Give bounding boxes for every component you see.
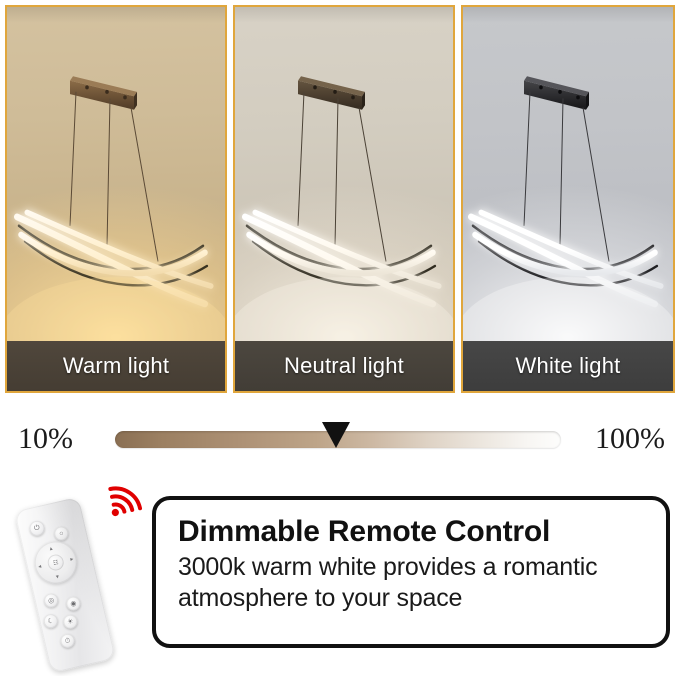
dpad-center-button[interactable]: ☷ <box>46 553 65 572</box>
caption-label: White light <box>516 353 621 379</box>
timer-button-glyph: ⏱ <box>59 632 76 649</box>
panel-warm-light: Warm light <box>5 5 227 393</box>
panel-neutral-light: Neutral light <box>233 5 455 393</box>
callout-body: 3000k warm white provides a romantic atm… <box>178 552 644 613</box>
wifi-signal-icon <box>100 480 152 520</box>
scene-one-button[interactable]: ◎ <box>43 592 60 609</box>
brightness-button-glyph: ☀ <box>62 613 79 630</box>
dimmer-min-label: 10% <box>18 422 73 456</box>
caption-neutral-light: Neutral light <box>235 341 453 391</box>
dimming-range-indicator: 10% 100% <box>0 404 679 470</box>
remote-body[interactable]: ⏻ ○ ▴ ▸ ▾ ◂ ☷ ◎ ◉ ☾ ☀ <box>14 497 116 674</box>
feature-callout-box: Dimmable Remote Control 3000k warm white… <box>152 496 670 648</box>
dimmer-position-marker[interactable] <box>322 422 350 448</box>
pendant-lamp-neutral <box>235 7 453 391</box>
power-button-glyph: ⏻ <box>28 519 46 537</box>
pendant-lamp-warm <box>7 7 225 391</box>
night-mode-button[interactable]: ☾ <box>42 613 59 630</box>
timer-button[interactable]: ⏱ <box>59 632 76 649</box>
mode-button-glyph: ○ <box>53 525 70 542</box>
caption-warm-light: Warm light <box>7 341 225 391</box>
scene-white <box>463 7 673 391</box>
callout-title: Dimmable Remote Control <box>178 516 644 548</box>
scene-one-button-glyph: ◎ <box>43 592 60 609</box>
power-button[interactable]: ⏻ <box>28 519 46 537</box>
night-mode-button-glyph: ☾ <box>42 613 59 630</box>
scene-neutral <box>235 7 453 391</box>
remote-control-section: ⏻ ○ ▴ ▸ ▾ ◂ ☷ ◎ ◉ ☾ ☀ <box>0 470 679 676</box>
caption-white-light: White light <box>463 341 673 391</box>
caption-label: Neutral light <box>284 353 404 379</box>
remote-control-illustration: ⏻ ○ ▴ ▸ ▾ ◂ ☷ ◎ ◉ ☾ ☀ <box>8 480 158 676</box>
dimmer-max-label: 100% <box>595 422 665 456</box>
panel-white-light: White light <box>461 5 675 393</box>
scene-warm <box>7 7 225 391</box>
dpad-down-arrow[interactable]: ▾ <box>55 573 60 580</box>
mode-button[interactable]: ○ <box>53 525 70 542</box>
dpad-right-arrow[interactable]: ▸ <box>70 556 75 563</box>
dpad-up-arrow[interactable]: ▴ <box>49 545 54 552</box>
scene-two-button[interactable]: ◉ <box>65 595 82 612</box>
dpad-ring[interactable]: ▴ ▸ ▾ ◂ ☷ <box>31 537 81 587</box>
light-temperature-panel-row: Warm light <box>0 0 679 398</box>
pendant-lamp-white <box>463 7 673 391</box>
caption-label: Warm light <box>63 353 169 379</box>
brightness-button[interactable]: ☀ <box>62 613 79 630</box>
dpad-left-arrow[interactable]: ◂ <box>37 563 42 570</box>
scene-two-button-glyph: ◉ <box>65 595 82 612</box>
